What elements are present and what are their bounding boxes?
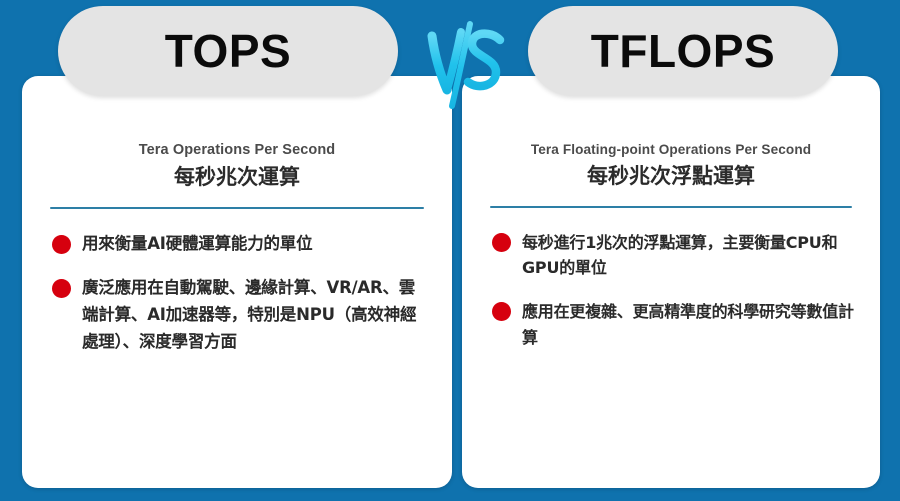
page-title-tops: TOPS — [165, 28, 291, 74]
comparison-infographic: Tera Operations Per Second 每秒兆次運算 用來衡量AI… — [0, 0, 900, 501]
card-body-tflops: Tera Floating-point Operations Per Secon… — [462, 142, 880, 369]
english-subtitle-tops: Tera Operations Per Second — [38, 142, 436, 159]
chinese-title-tflops: 每秒兆次浮點運算 — [478, 163, 864, 189]
list-item: 廣泛應用在自動駕駛、邊緣計算、VR/AR、雲端計算、AI加速器等，特別是NPU（… — [52, 275, 426, 355]
card-divider-tops — [50, 207, 424, 209]
card-divider-tflops — [490, 206, 852, 208]
bullet-text: 廣泛應用在自動駕駛、邊緣計算、VR/AR、雲端計算、AI加速器等，特別是NPU（… — [82, 275, 426, 355]
bullet-list-tops: 用來衡量AI硬體運算能力的單位 廣泛應用在自動駕駛、邊緣計算、VR/AR、雲端計… — [38, 231, 436, 356]
bullet-list-tflops: 每秒進行1兆次的浮點運算，主要衡量CPU和GPU的單位 應用在更複雜、更高精準度… — [478, 230, 864, 352]
card-header-pill-tflops: TFLOPS — [528, 6, 838, 96]
chinese-title-tops: 每秒兆次運算 — [38, 164, 436, 190]
bullet-text: 應用在更複雜、更高精準度的科學研究等數值計算 — [522, 299, 854, 351]
comparison-card-tops: Tera Operations Per Second 每秒兆次運算 用來衡量AI… — [22, 76, 452, 488]
list-item: 用來衡量AI硬體運算能力的單位 — [52, 231, 426, 258]
english-subtitle-tflops: Tera Floating-point Operations Per Secon… — [478, 142, 864, 158]
page-title-tflops: TFLOPS — [591, 28, 775, 74]
bullet-text: 用來衡量AI硬體運算能力的單位 — [82, 231, 312, 258]
comparison-card-tflops: Tera Floating-point Operations Per Secon… — [462, 76, 880, 488]
card-body-tops: Tera Operations Per Second 每秒兆次運算 用來衡量AI… — [22, 142, 452, 374]
card-header-pill-tops: TOPS — [58, 6, 398, 96]
list-item: 應用在更複雜、更高精準度的科學研究等數值計算 — [492, 299, 854, 351]
bullet-dot-icon — [492, 302, 511, 321]
bullet-text: 每秒進行1兆次的浮點運算，主要衡量CPU和GPU的單位 — [522, 230, 854, 282]
bullet-dot-icon — [492, 233, 511, 252]
bullet-dot-icon — [52, 235, 71, 254]
bullet-dot-icon — [52, 279, 71, 298]
list-item: 每秒進行1兆次的浮點運算，主要衡量CPU和GPU的單位 — [492, 230, 854, 282]
